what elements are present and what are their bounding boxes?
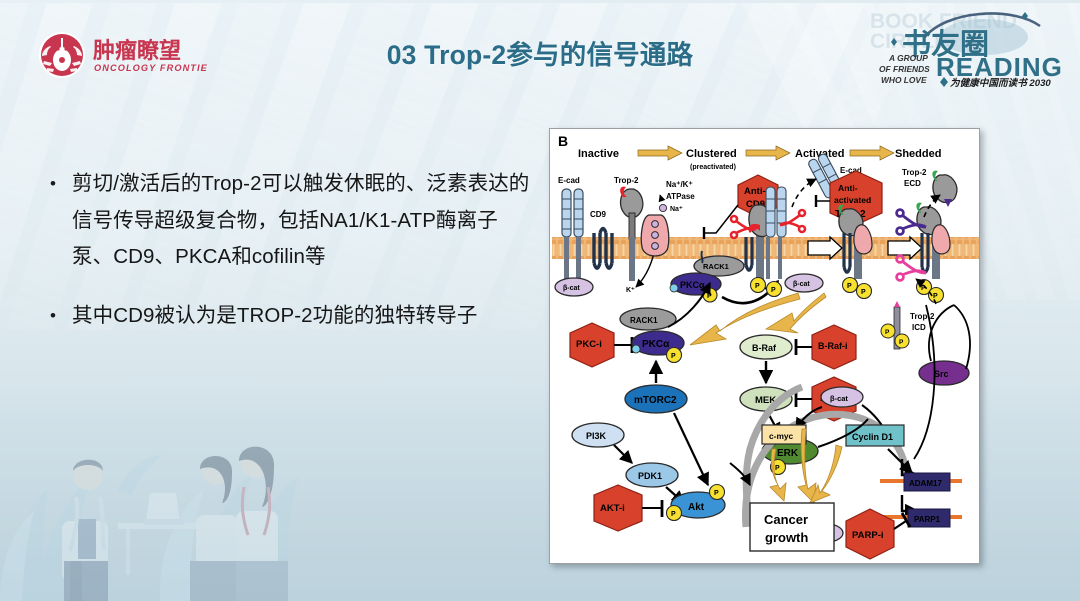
svg-text:P: P	[714, 490, 719, 497]
adam17-gene: ADAM17	[880, 459, 962, 491]
label-growth: growth	[765, 530, 808, 545]
svg-text:β-cat: β-cat	[830, 394, 848, 403]
svg-text:P: P	[755, 283, 760, 290]
label-trop2: Trop-2	[614, 176, 639, 185]
svg-text:P: P	[899, 339, 904, 346]
label-k-ion: K⁺	[626, 287, 635, 294]
label-b-raf-i: B-Raf-i	[818, 341, 848, 351]
label-pkc-alpha-2: PKCα	[642, 339, 670, 350]
svg-text:P: P	[771, 287, 776, 294]
label-pkc-alpha: PKCα	[680, 280, 705, 290]
label-anti-act-2: activated	[834, 195, 871, 205]
stage-label-clustered: Clustered	[686, 148, 737, 160]
label-pdk1: PDK1	[638, 471, 662, 481]
slide-canvas: 肿瘤瞭望 ONCOLOGY FRONTIER 03 Trop-2参与的信号通路 …	[0, 0, 1080, 601]
stage-arrow-icon	[638, 146, 894, 160]
svg-text:P: P	[671, 353, 676, 360]
label-beta-cat: β-cat	[563, 285, 580, 292]
label-anti-cd9-1: Anti-	[744, 186, 766, 197]
trop2-icd-icon: P P	[881, 301, 909, 349]
reading-club-logo: BOOK FRIEND CIRCLE 书友圈 READING A GROUP O…	[862, 4, 1072, 92]
panel-label: B	[558, 133, 568, 149]
label-mtorc2: mTORC2	[634, 395, 677, 406]
bullet-marker: •	[46, 298, 72, 335]
label-cd9: CD9	[590, 210, 607, 219]
stage-label-shedded: Shedded	[895, 148, 941, 160]
cancer-growth-outcome: Cancer growth	[750, 503, 834, 551]
header-top-line	[0, 0, 1080, 3]
akt-i-inhibitor: AKT-i	[594, 485, 642, 531]
cmyc-gene-node: c-myc	[762, 425, 806, 444]
label-phospho: P	[707, 293, 712, 300]
pkc-anchor-icon	[701, 251, 702, 263]
ecad-shed-dashed-arrow	[792, 179, 816, 207]
label-src: Src	[934, 369, 949, 379]
label-trop2-icd-1: Trop-2	[910, 312, 935, 321]
label-na-k-1: Na⁺/K⁺	[666, 180, 693, 189]
label-adam17: ADAM17	[909, 479, 942, 488]
bullet-text: 其中CD9被认为是TROP-2功能的独特转导子	[72, 298, 477, 335]
doctors-illustration	[0, 411, 300, 601]
logo-right-slogan: 为健康中国而读书 2030	[950, 77, 1051, 89]
cyclin-d1-gene-node: Cyclin D1	[846, 425, 904, 446]
label-rack1-2: RACK1	[630, 316, 658, 325]
svg-text:P: P	[933, 293, 938, 300]
label-cmyc: c-myc	[769, 431, 794, 441]
bullet-marker: •	[46, 166, 72, 276]
label-ecad: E-cad	[558, 176, 580, 185]
list-item: • 其中CD9被认为是TROP-2功能的独特转导子	[46, 298, 536, 335]
bullet-list: • 剪切/激活后的Trop-2可以触发休眠的、泛素表达的信号传导超级复合物，包括…	[46, 166, 536, 356]
na-k-atpase-icon	[641, 215, 668, 256]
label-parp1: PARP1	[914, 515, 941, 524]
trop2-receptor-icon	[620, 187, 643, 281]
label-parp-i: PARP-i	[852, 530, 884, 541]
label-pi3k: PI3K	[586, 431, 607, 441]
logo-right-tagline-3: WHO LOVE	[881, 75, 927, 85]
bullet-text: 剪切/激活后的Trop-2可以触发休眠的、泛素表达的信号传导超级复合物，包括NA…	[72, 166, 536, 276]
label-cancer: Cancer	[764, 512, 808, 527]
label-na-ion: Na⁺	[670, 206, 683, 213]
label-erk: ERK	[777, 448, 799, 459]
label-rack1: RACK1	[703, 262, 729, 271]
svg-text:β-cat: β-cat	[793, 281, 810, 288]
label-akt: Akt	[688, 502, 705, 513]
label-pkc-i: PKC-i	[576, 339, 602, 350]
label-akt-i: AKT-i	[600, 503, 625, 514]
label-na-k-2: ATPase	[666, 192, 695, 201]
stage-label-inactive: Inactive	[578, 148, 619, 160]
label-trop2-ecd-2: ECD	[904, 179, 921, 188]
trop2-ecd-shed-icon	[932, 171, 956, 207]
list-item: • 剪切/激活后的Trop-2可以触发休眠的、泛素表达的信号传导超级复合物，包括…	[46, 166, 536, 276]
label-b-raf: B-Raf	[752, 343, 777, 353]
svg-text:P: P	[775, 465, 780, 472]
label-trop2-ecd-1: Trop-2	[902, 168, 927, 177]
pkc-i-inhibitor: PKC-i	[570, 323, 614, 367]
label-anti-act-1: Anti-	[838, 183, 858, 193]
signaling-pathway-figure: B Inactive Clustered (preactivated) Acti…	[549, 128, 980, 564]
svg-text:P: P	[885, 329, 890, 336]
svg-text:P: P	[671, 511, 676, 518]
svg-text:P: P	[847, 283, 852, 290]
stage-sublabel-preactivated: (preactivated)	[690, 164, 736, 171]
svg-text:P: P	[861, 289, 866, 296]
label-cyclin-d1: Cyclin D1	[852, 432, 893, 442]
logo-right-tagline-1: A GROUP	[888, 53, 928, 63]
logo-right-tagline-2: OF FRIENDS	[879, 64, 930, 74]
ecad-receptor-icon	[562, 189, 583, 281]
label-trop2-icd-2: ICD	[912, 323, 926, 332]
b-raf-i-inhibitor: B-Raf-i	[812, 325, 856, 369]
